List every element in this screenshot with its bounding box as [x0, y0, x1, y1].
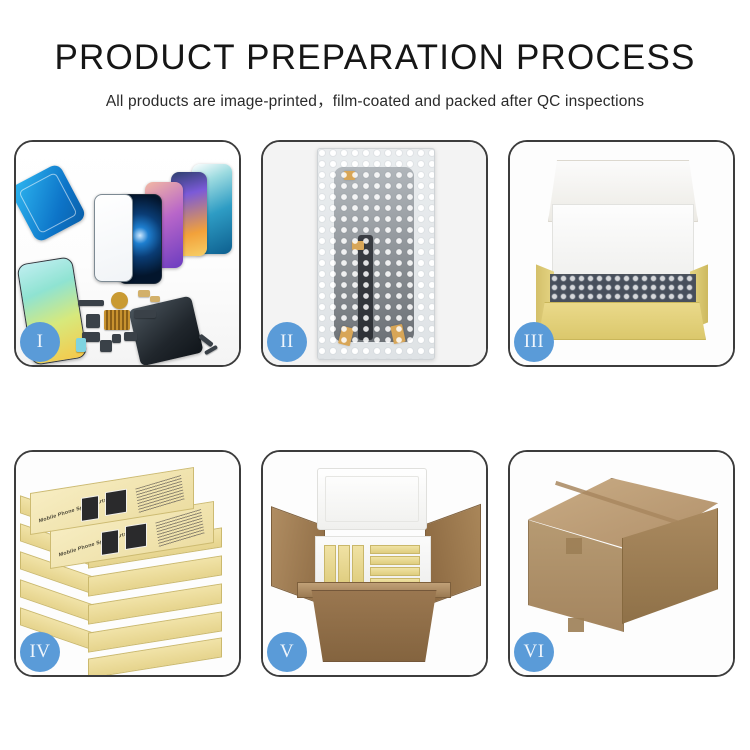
- speaker-part-icon: [78, 300, 104, 306]
- sensor-part-icon: [124, 332, 137, 341]
- step-card-2[interactable]: II: [261, 140, 488, 367]
- ic-board-part-icon: [104, 310, 130, 330]
- step-card-1[interactable]: I: [14, 140, 241, 367]
- box-label-screen-b-top: [105, 489, 127, 516]
- connector-part-2-icon: [150, 296, 160, 302]
- inner-yellow-box-3: [352, 545, 364, 585]
- page-subtitle: All products are image-printed，film-coat…: [0, 89, 750, 111]
- badge-step-6: VI: [514, 632, 554, 672]
- carton-body-icon: [303, 590, 445, 662]
- step-card-3[interactable]: III: [508, 140, 735, 367]
- page-title: PRODUCT PREPARATION PROCESS: [0, 38, 750, 78]
- badge-step-5: V: [267, 632, 307, 672]
- tape-piece-left-icon: [338, 326, 354, 346]
- box-front-panel-icon: [538, 302, 706, 340]
- gold-coil-part-icon: [111, 292, 128, 309]
- box-label-screen-b-lower: [125, 523, 147, 550]
- badge-step-2: II: [267, 322, 307, 362]
- inner-yellow-box-2: [338, 545, 350, 585]
- button-part-icon: [112, 334, 121, 343]
- inner-yellow-box-4: [370, 545, 420, 554]
- inner-yellow-box-6: [370, 567, 420, 576]
- phone-backplate-icon: [128, 296, 203, 365]
- antenna-part-icon: [134, 310, 156, 318]
- box-label-spec-lines-top: [135, 475, 184, 514]
- foam-lid-icon: [317, 468, 427, 530]
- step-image-6: VI: [510, 452, 733, 675]
- foam-sheet-icon: [552, 204, 694, 280]
- badge-step-4: IV: [20, 632, 60, 672]
- wrapped-flex-cable-icon: [358, 235, 373, 340]
- small-screen-part-icon: [76, 338, 86, 352]
- step-image-3: III: [510, 142, 733, 365]
- step-image-2: II: [263, 142, 486, 365]
- box-label-screen-a-lower: [101, 529, 119, 556]
- step-card-5[interactable]: V: [261, 450, 488, 677]
- blue-adhesive-film-icon: [16, 162, 87, 243]
- bubble-wrap-bag: [317, 148, 435, 360]
- carton-tape-lower-icon: [568, 618, 584, 632]
- process-steps-grid: I II: [14, 140, 736, 677]
- step-card-4[interactable]: Mobile Phone Spare Parts Mobile Phone Sp…: [14, 450, 241, 677]
- step-image-1: I: [16, 142, 239, 365]
- carton-tape-upper-icon: [566, 538, 582, 554]
- step-card-6[interactable]: VI: [508, 450, 735, 677]
- box-label-spec-lines-lower: [155, 509, 204, 548]
- badge-step-3: III: [514, 322, 554, 362]
- box-label-screen-a-top: [81, 495, 99, 522]
- step-image-4: Mobile Phone Spare Parts Mobile Phone Sp…: [16, 452, 239, 675]
- bubble-wrap-layer-icon: [550, 274, 696, 306]
- camera-part-icon: [86, 314, 100, 328]
- tape-piece-top-icon: [344, 171, 355, 180]
- header: PRODUCT PREPARATION PROCESS All products…: [0, 0, 750, 111]
- wrapped-screen-icon: [334, 167, 414, 342]
- vibrator-part-icon: [100, 340, 112, 352]
- tape-piece-mid-icon: [352, 241, 364, 250]
- inner-yellow-box-5: [370, 556, 420, 565]
- screen-protector-icon: [94, 194, 133, 282]
- badge-step-1: I: [20, 322, 60, 362]
- product-preparation-page: PRODUCT PREPARATION PROCESS All products…: [0, 0, 750, 750]
- inner-yellow-box-1: [324, 545, 336, 585]
- connector-part-icon: [138, 290, 150, 297]
- step-image-5: V: [263, 452, 486, 675]
- tweezers-icon: [204, 345, 218, 355]
